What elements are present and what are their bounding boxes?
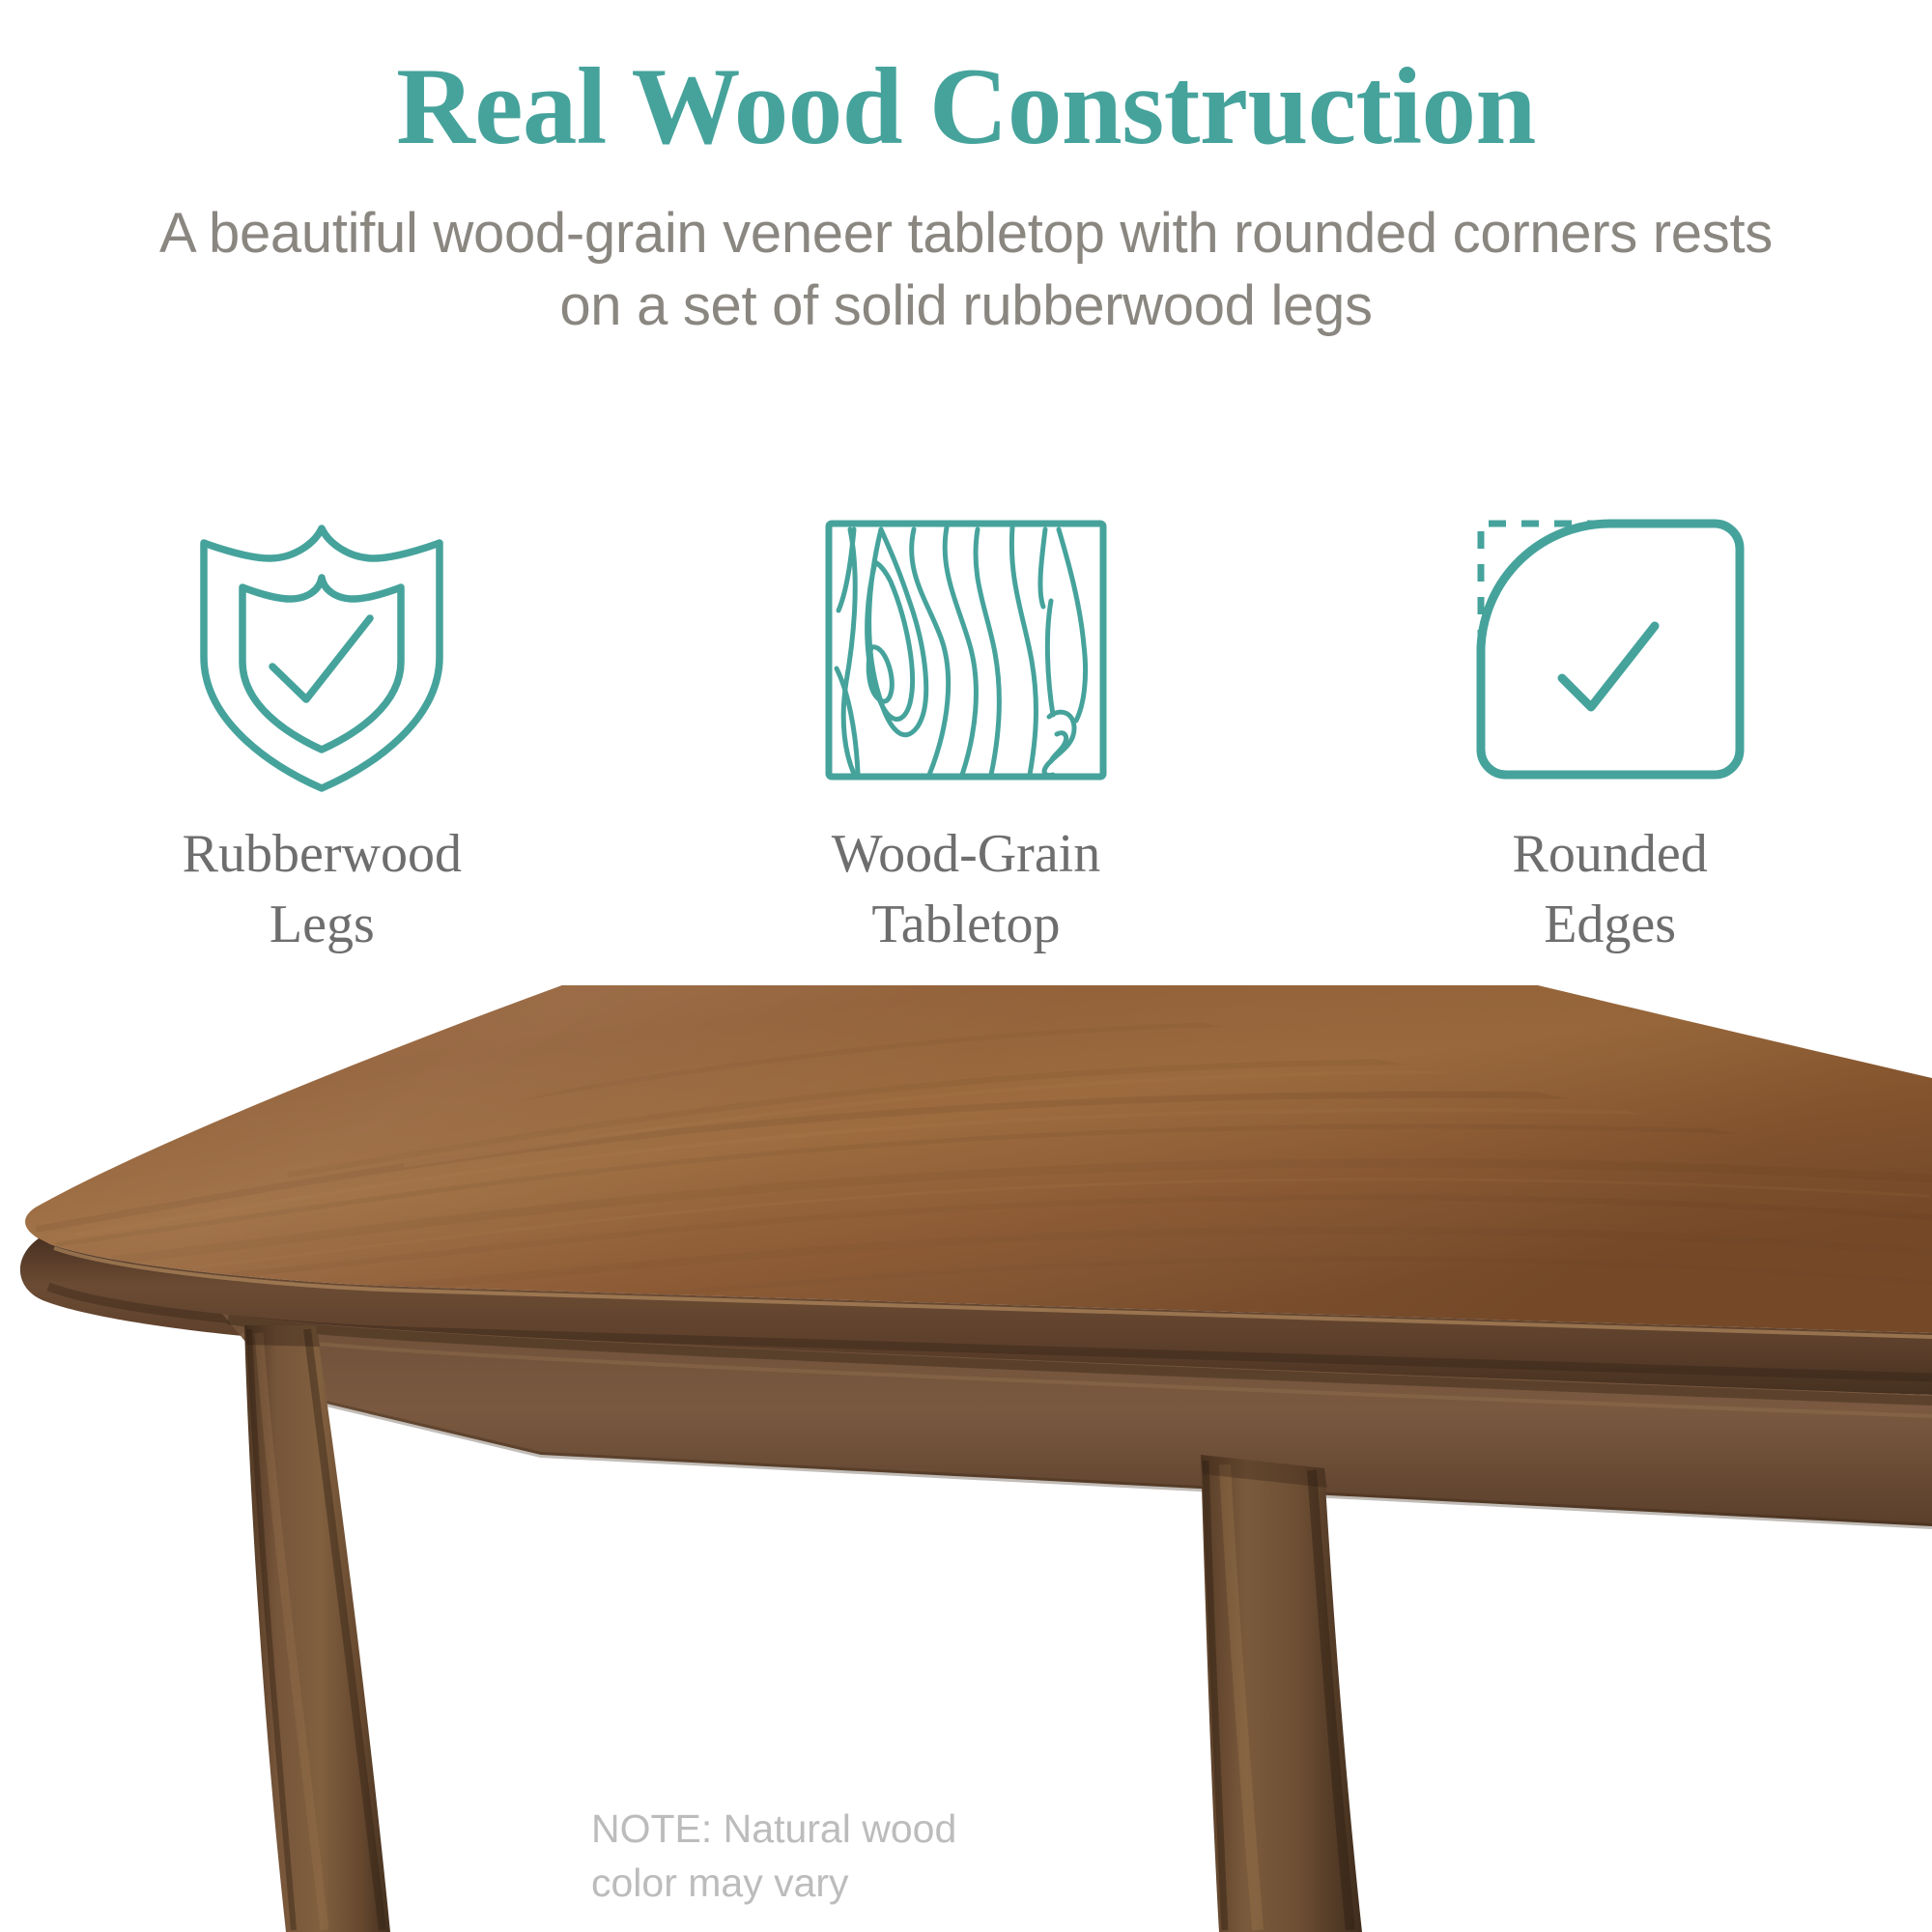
feature-item-rounded-edges: Rounded Edges — [1311, 502, 1910, 960]
page-title: Real Wood Construction — [0, 50, 1932, 164]
table-illustration — [0, 985, 1932, 1932]
shield-check-icon — [177, 502, 467, 792]
note-text: NOTE: Natural wood color may vary — [591, 1803, 1074, 1911]
feature-list: Rubberwood Legs — [0, 502, 1932, 960]
product-photo — [0, 985, 1932, 1932]
feature-label: Rubberwood Legs — [183, 819, 462, 960]
rounded-corner-icon — [1465, 502, 1755, 792]
tabletop-sheen — [25, 985, 1932, 1333]
feature-label: Rounded Edges — [1513, 819, 1708, 960]
wood-grain-icon — [821, 502, 1111, 792]
header: Real Wood Construction A beautiful wood-… — [0, 0, 1932, 342]
feature-label: Wood-Grain Tabletop — [832, 819, 1101, 960]
page-subtitle: A beautiful wood-grain veneer tabletop w… — [145, 197, 1787, 343]
feature-item-wood-grain-tabletop: Wood-Grain Tabletop — [667, 502, 1265, 960]
feature-item-rubberwood-legs: Rubberwood Legs — [22, 502, 621, 960]
